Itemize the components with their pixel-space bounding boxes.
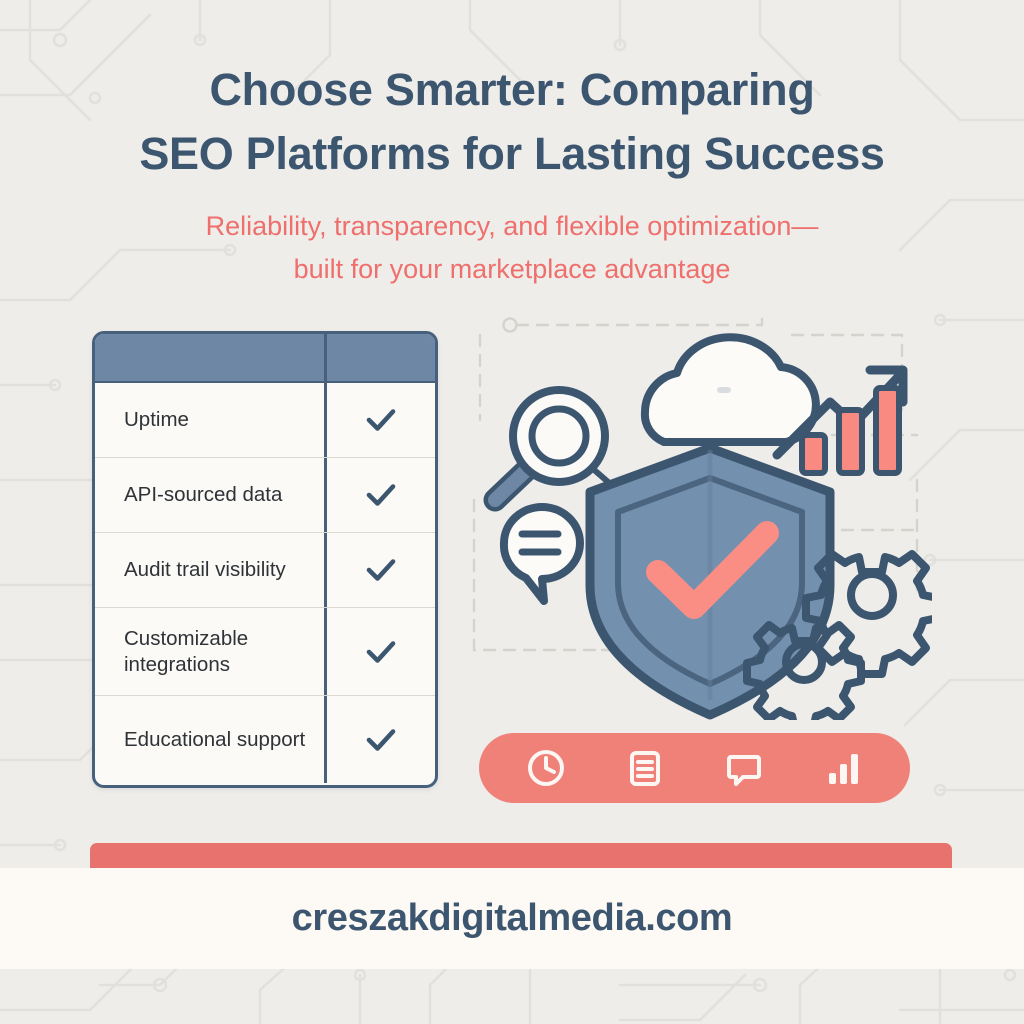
page-title: Choose Smarter: Comparing SEO Platforms …: [0, 58, 1024, 186]
feature-comparison-table: Uptime API-sourced data Audit trail visi…: [92, 331, 438, 788]
cloud-icon: [645, 337, 816, 442]
frame-node-circle: [504, 319, 517, 332]
clock-icon: [525, 747, 567, 789]
feature-label: Uptime: [95, 383, 324, 457]
checkmark-icon: [364, 478, 398, 512]
table-row: Audit trail visibility: [95, 533, 435, 608]
feature-label: Customizable integrations: [95, 608, 324, 695]
table-header-row: [95, 334, 435, 383]
chat-bubble-icon: [723, 747, 765, 789]
checkmark-icon: [364, 723, 398, 757]
feature-label: API-sourced data: [95, 458, 324, 532]
seo-platform-illustration: [462, 300, 932, 720]
footer-band: creszakdigitalmedia.com: [0, 868, 1024, 969]
check-cell: [324, 458, 435, 532]
table-row: Educational support: [95, 696, 435, 783]
checkmark-icon: [364, 553, 398, 587]
title-line-2: SEO Platforms for Lasting Success: [0, 122, 1024, 186]
title-line-1: Choose Smarter: Comparing: [0, 58, 1024, 122]
page-subtitle: Reliability, transparency, and flexible …: [0, 205, 1024, 291]
table-row: Customizable integrations: [95, 608, 435, 696]
checkmark-icon: [364, 635, 398, 669]
feature-label: Educational support: [95, 696, 324, 783]
table-header-feature-cell: [95, 334, 324, 381]
subtitle-line-1: Reliability, transparency, and flexible …: [0, 205, 1024, 248]
bar-chart-icon: [822, 747, 864, 789]
infographic-canvas: Choose Smarter: Comparing SEO Platforms …: [0, 0, 1024, 1024]
feature-icon-bar: [479, 733, 910, 803]
table-row: API-sourced data: [95, 458, 435, 533]
speech-bubble-icon: [504, 507, 580, 601]
table-header-check-cell: [324, 334, 435, 381]
checkmark-icon: [364, 403, 398, 437]
check-cell: [324, 383, 435, 457]
list-document-icon: [624, 747, 666, 789]
check-cell: [324, 696, 435, 783]
subtitle-line-2: built for your marketplace advantage: [0, 248, 1024, 291]
check-cell: [324, 533, 435, 607]
feature-label: Audit trail visibility: [95, 533, 324, 607]
table-row: Uptime: [95, 383, 435, 458]
check-cell: [324, 608, 435, 695]
website-url[interactable]: creszakdigitalmedia.com: [292, 897, 733, 940]
